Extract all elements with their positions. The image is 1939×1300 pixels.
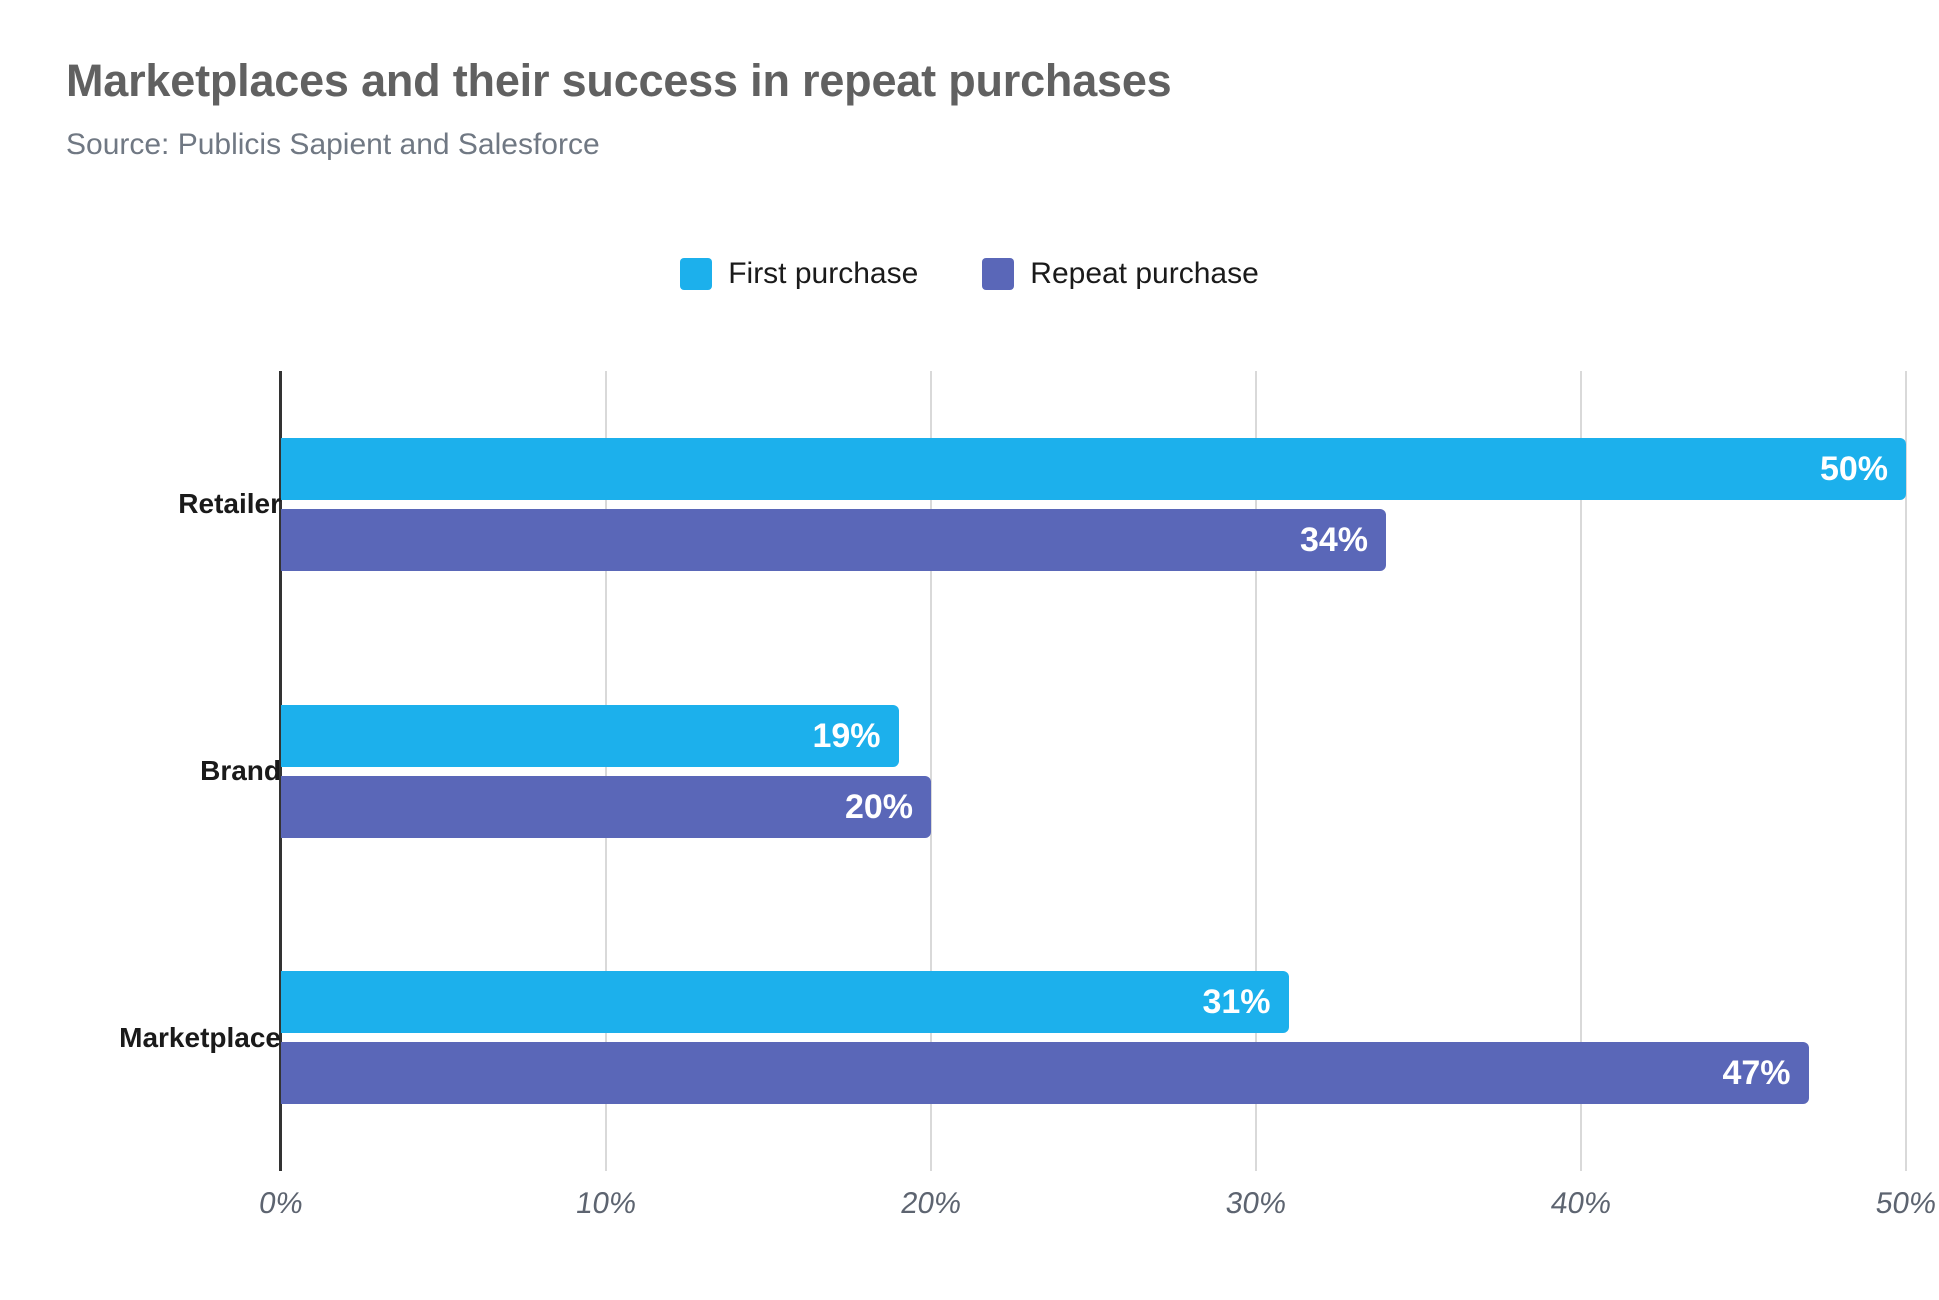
legend-swatch-icon <box>680 258 712 290</box>
x-tick-label: 50% <box>1874 1187 1939 1221</box>
bar-row: 50% <box>281 438 1906 500</box>
chart-container: Marketplaces and their success in repeat… <box>0 0 1939 1300</box>
x-tick-label: 30% <box>1224 1187 1289 1221</box>
x-tick-label: 40% <box>1549 1187 1614 1221</box>
x-tick-label: 10% <box>574 1187 639 1221</box>
chart-title: Marketplaces and their success in repeat… <box>66 56 1866 106</box>
bar-brand-repeat[interactable]: 20% <box>281 776 931 838</box>
bar-row: 20% <box>281 776 1906 838</box>
bar-row: 34% <box>281 509 1906 571</box>
legend-swatch-icon <box>982 258 1014 290</box>
bar-retailer-first[interactable]: 50% <box>281 438 1906 500</box>
bar-value-label: 34% <box>1300 523 1386 557</box>
x-tick-label: 0% <box>257 1187 305 1221</box>
bar-marketplace-repeat[interactable]: 47% <box>281 1042 1809 1104</box>
bar-row: 19% <box>281 705 1906 767</box>
category-label-retailer: Retailer <box>178 488 281 520</box>
x-tick-label: 20% <box>899 1187 964 1221</box>
bar-retailer-repeat[interactable]: 34% <box>281 509 1386 571</box>
bar-brand-first[interactable]: 19% <box>281 705 899 767</box>
bar-value-label: 47% <box>1722 1056 1808 1090</box>
chart-legend: First purchaseRepeat purchase <box>0 258 1939 290</box>
chart-subtitle-source: Source: Publicis Sapient and Salesforce <box>66 128 1866 161</box>
legend-item-1[interactable]: First purchase <box>680 258 918 290</box>
bar-value-label: 50% <box>1820 452 1906 486</box>
chart-header: Marketplaces and their success in repeat… <box>66 56 1866 161</box>
plot-area: 50%34%19%20%31%47% <box>281 371 1906 1171</box>
bar-marketplace-first[interactable]: 31% <box>281 971 1289 1033</box>
bar-value-label: 20% <box>845 790 931 824</box>
x-axis: 0%10%20%30%40%50% <box>281 1171 1906 1241</box>
bar-row: 31% <box>281 971 1906 1033</box>
bar-value-label: 19% <box>812 719 898 753</box>
legend-label: First purchase <box>728 259 918 289</box>
category-label-marketplace: Marketplace <box>119 1022 281 1054</box>
bar-row: 47% <box>281 1042 1906 1104</box>
category-label-brand: Brand <box>200 755 281 787</box>
legend-label: Repeat purchase <box>1030 259 1259 289</box>
bar-value-label: 31% <box>1202 985 1288 1019</box>
legend-item-2[interactable]: Repeat purchase <box>982 258 1259 290</box>
